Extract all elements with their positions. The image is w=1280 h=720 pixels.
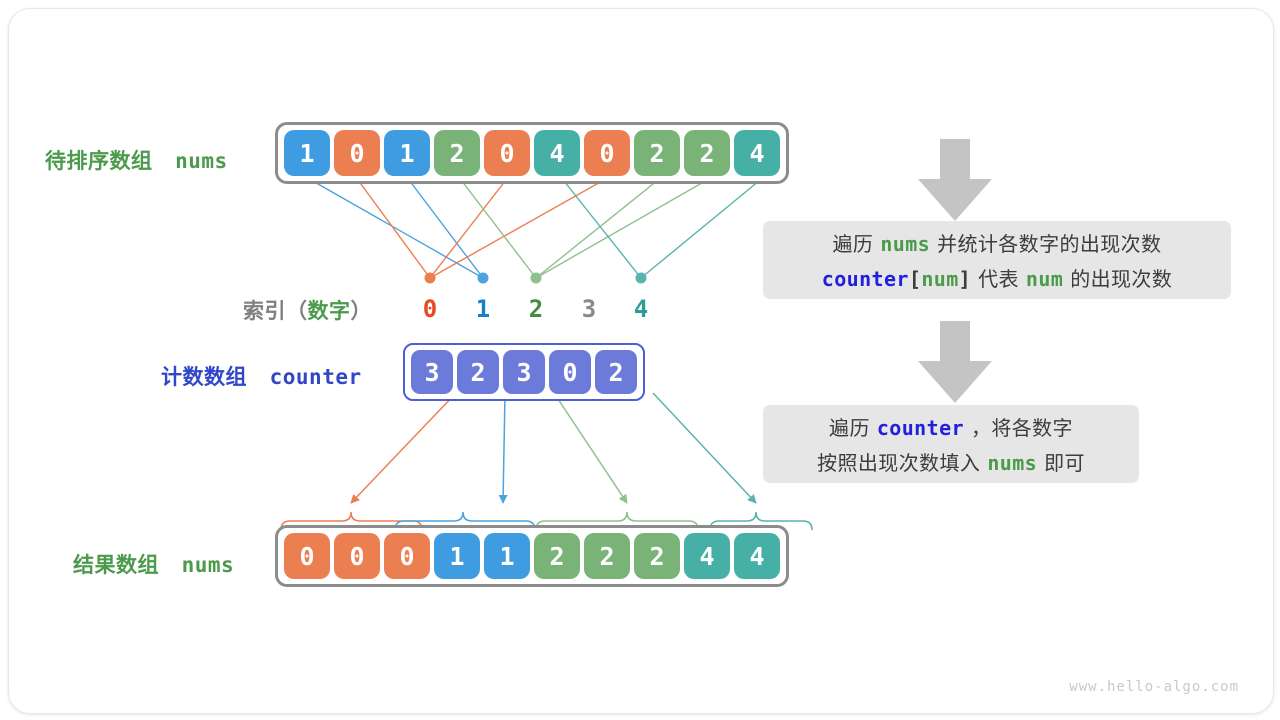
- input-array-cell: 0: [484, 130, 530, 176]
- counter-array-label-var: counter: [270, 365, 362, 389]
- input-array-cell: 0: [334, 130, 380, 176]
- note-fill-l1-t2: ，将各数字: [971, 412, 1073, 441]
- note-fill-l1-t1: 遍历: [829, 412, 870, 441]
- note-fill-l2-code1: nums: [987, 451, 1037, 475]
- note-count-l2-code2: num: [921, 267, 958, 291]
- input-array-cell: 2: [634, 130, 680, 176]
- input-array-cell: 1: [384, 130, 430, 176]
- input-array-label-cn: 待排序数组: [45, 149, 153, 173]
- result-array-cell: 4: [734, 533, 780, 579]
- result-array-cell: 1: [434, 533, 480, 579]
- diagram-card: 待排序数组 nums 1012040224 索引（数字） 01234 计数数组 …: [8, 8, 1274, 714]
- counter-array-cell: 3: [411, 350, 453, 394]
- input-array-label: 待排序数组 nums: [45, 145, 228, 175]
- input-array-cell: 2: [684, 130, 730, 176]
- note-count: 遍历 nums 并统计各数字的出现次数 counter[num] 代表 num …: [763, 221, 1231, 299]
- note-count-line-2: counter[num] 代表 num 的出现次数: [822, 263, 1172, 292]
- result-array-cell: 2: [634, 533, 680, 579]
- diagram-stage: 待排序数组 nums 1012040224 索引（数字） 01234 计数数组 …: [9, 9, 1273, 713]
- result-array-cell: 0: [334, 533, 380, 579]
- note-count-l2-t2: 的出现次数: [1070, 263, 1172, 292]
- note-count-l2-code1: counter: [822, 267, 909, 291]
- input-array-cell: 0: [584, 130, 630, 176]
- result-array-cell: 0: [284, 533, 330, 579]
- input-array-label-var: nums: [175, 149, 228, 173]
- note-fill-l2-t2: 即可: [1044, 447, 1085, 476]
- watermark: www.hello-algo.com: [1069, 679, 1239, 695]
- result-array-label-cn: 结果数组: [73, 553, 159, 577]
- note-count-l2-code3: num: [1026, 267, 1063, 291]
- result-array-label-var: nums: [182, 553, 235, 577]
- note-count-l2-br1: [: [909, 267, 921, 291]
- index-value: 2: [529, 295, 543, 323]
- result-array-cell: 0: [384, 533, 430, 579]
- note-count-l2-br2: ]: [959, 267, 971, 291]
- counter-array: 32302: [403, 343, 645, 401]
- note-fill-l1-code1: counter: [877, 416, 964, 440]
- note-count-l1-t1: 遍历: [833, 228, 874, 257]
- input-array-cell: 2: [434, 130, 480, 176]
- tally-dots: [425, 273, 647, 284]
- index-values-row: 01234: [9, 295, 1273, 325]
- note-fill-line-1: 遍历 counter ，将各数字: [829, 412, 1073, 441]
- result-array: 0001122244: [275, 525, 789, 587]
- index-value: 0: [423, 295, 437, 323]
- tally-wires: [304, 176, 765, 278]
- input-array: 1012040224: [275, 122, 789, 184]
- counter-array-cell: 2: [457, 350, 499, 394]
- note-fill: 遍历 counter ，将各数字 按照出现次数填入 nums 即可: [763, 405, 1139, 483]
- result-array-cell: 4: [684, 533, 730, 579]
- counter-array-label-cn: 计数数组: [161, 365, 247, 389]
- result-array-cell: 2: [534, 533, 580, 579]
- fill-arrows: [351, 393, 756, 503]
- note-count-l1-code1: nums: [880, 232, 930, 256]
- input-array-cell: 4: [534, 130, 580, 176]
- result-array-label: 结果数组 nums: [73, 549, 234, 579]
- counter-array-cell: 2: [595, 350, 637, 394]
- note-count-l1-t2: 并统计各数字的出现次数: [937, 228, 1161, 257]
- index-value: 4: [634, 295, 648, 323]
- input-array-cell: 1: [284, 130, 330, 176]
- counter-array-cell: 3: [503, 350, 545, 394]
- note-fill-l2-t1: 按照出现次数填入: [817, 447, 980, 476]
- counter-array-cell: 0: [549, 350, 591, 394]
- index-value: 1: [476, 295, 490, 323]
- note-fill-line-2: 按照出现次数填入 nums 即可: [817, 447, 1085, 476]
- note-count-line-1: 遍历 nums 并统计各数字的出现次数: [833, 228, 1162, 257]
- result-array-cell: 2: [584, 533, 630, 579]
- index-value: 3: [582, 295, 596, 323]
- counter-array-label: 计数数组 counter: [161, 361, 362, 391]
- result-array-cell: 1: [484, 533, 530, 579]
- input-array-cell: 4: [734, 130, 780, 176]
- note-count-l2-t1: 代表: [978, 263, 1019, 292]
